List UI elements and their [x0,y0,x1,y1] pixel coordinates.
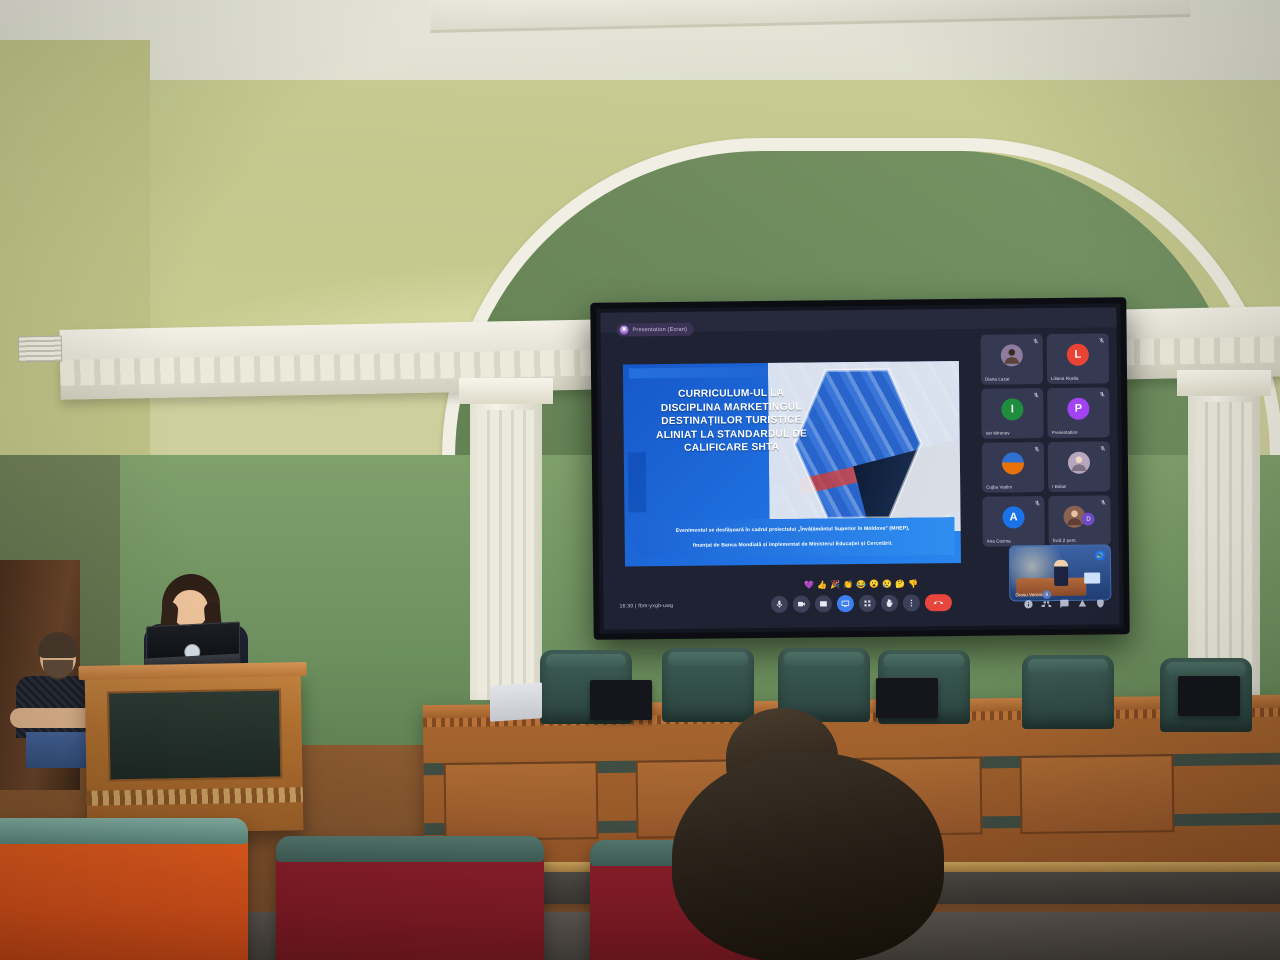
table-panel [444,761,599,841]
pilaster-left [470,400,542,700]
overflow-badge: D [1082,513,1095,526]
participant-tile[interactable]: L Liliana Rusila [1047,333,1110,384]
activities-panel-button[interactable] [1077,596,1087,606]
captions-button[interactable] [815,595,832,612]
reaction-emoji[interactable]: 😢 [882,581,892,589]
podium-front-panel [107,688,283,781]
meet-controls [771,594,952,613]
chair-headrest [784,652,864,666]
participant-name: Ion Mironov [986,430,1010,435]
avatar [1001,344,1023,366]
call-end-icon [934,598,943,607]
participant-name: Ana Cozma [987,538,1011,543]
laptop-on-table [490,682,542,722]
participant-tile[interactable]: A Ana Cozma [982,496,1045,547]
reaction-emoji[interactable]: 😮 [869,581,879,589]
reaction-emoji[interactable]: 👏 [843,581,853,589]
participant-tile[interactable]: Cujba Vadim [982,442,1045,493]
participant-name: Încă 2 pers. [1053,538,1077,543]
camera-icon [797,600,806,609]
mic-muted-icon [1034,500,1040,506]
pilaster-flutes-right [1196,402,1252,702]
presidium-chair [1022,655,1114,729]
participant-overflow-tile[interactable]: D Încă 2 pers. [1048,495,1111,546]
avatar-letter: I [1011,403,1014,415]
slide-left-notch [628,452,647,512]
table-panel [1020,754,1175,834]
monitor-on-table [1178,676,1240,716]
more-options-button[interactable] [903,594,920,611]
pilaster-cap-right [1177,370,1271,396]
chair-headrest [1166,662,1246,676]
mic-muted-icon [1099,337,1105,343]
present-button[interactable] [837,595,854,612]
seated-man-arm [10,708,94,728]
chair-headrest [546,654,626,668]
participant-name: Liliana Rusila [1051,376,1079,381]
raise-hand-button[interactable] [881,595,898,612]
participant-name: I Bolan [1052,484,1066,489]
microphone-button[interactable] [771,596,788,613]
participant-tile[interactable]: P Presentation [1047,387,1110,438]
avatar [1002,452,1024,474]
avatar-letter: L [1074,349,1081,361]
seat-headrest [276,836,544,862]
chat-icon [1059,599,1069,609]
mic-muted-icon [1034,446,1040,452]
more-vert-icon [907,598,916,607]
audience-head-front [672,752,944,960]
participant-tile[interactable]: I Ion Mironov [981,388,1044,439]
monitor-on-table [876,678,938,718]
podium-greek-molding [87,787,303,806]
chat-button[interactable] [1059,596,1069,606]
reaction-emoji[interactable]: 🤔 [895,581,905,589]
reaction-emoji[interactable]: 😂 [856,581,866,589]
present-icon: ▣ [619,325,628,334]
self-view-monitor [1084,572,1100,583]
chair-headrest [1028,659,1108,673]
slide-footer-band: Evenimentul se desfășoară în cadrul proi… [624,513,960,563]
participant-name: Cujba Vadim [986,484,1012,489]
avatar: L [1067,344,1089,366]
meeting-info-label: 16:30 | fbm-yxgb-uwg [619,603,673,610]
seated-man-hair [38,632,78,658]
participant-tile[interactable]: I Bolan [1048,441,1111,492]
pilaster-right [1188,392,1260,702]
chair-headrest [668,652,748,666]
audience-seat [0,818,248,960]
wall-mounted-display: ▣ Presentation (Ecran) CURRICULUM-UL LA … [590,297,1129,640]
participant-tile[interactable]: Diana Lazar [981,334,1044,385]
people-icon [1041,599,1051,609]
meet-control-bar: 16:30 | fbm-yxgb-uwg [603,592,1119,621]
mic-icon [775,600,784,609]
meeting-details-button[interactable] [1023,596,1033,606]
meet-right-icons: 9 [1023,595,1105,606]
person-photo-icon [1069,453,1089,473]
captions-icon [819,599,828,608]
host-controls-button[interactable] [1095,595,1105,605]
end-call-button[interactable] [925,594,952,611]
reaction-emoji[interactable]: 💜 [804,581,814,589]
google-meet-window: ▣ Presentation (Ecran) CURRICULUM-UL LA … [600,307,1119,629]
participant-name: Presentation [1052,430,1078,435]
shared-slide: CURRICULUM-UL LA DISCIPLINA MARKETINGUL … [623,361,961,567]
people-button[interactable]: 9 [1041,596,1051,606]
chair-headrest [884,654,964,668]
presidium-chair [662,648,754,722]
apps-icon [863,599,872,608]
mic-muted-icon [1033,392,1039,398]
present-icon [841,599,850,608]
slide-title-line-5: CALIFICARE SHTA [634,441,830,457]
shield-icon [1095,598,1105,608]
pilaster-flutes-left [478,410,534,700]
reaction-emoji[interactable]: 🎉 [830,581,840,589]
slide-title-line-4: ALINIAT LA STANDARDUL DE [634,427,830,443]
info-icon [1023,599,1033,609]
conference-hall-photo: ▣ Presentation (Ecran) CURRICULUM-UL LA … [0,0,1280,960]
audience-seat [276,836,544,960]
speaker-podium [85,670,304,834]
self-view-person [1054,560,1068,586]
participant-name: Diana Lazar [985,376,1010,381]
avatar: P [1067,398,1089,420]
monitor-on-table [590,680,652,720]
avatar: A [1002,506,1024,528]
participant-grid: Diana Lazar L Liliana Rusila I Ion Miron… [981,333,1111,546]
slide-footer-shape [631,517,955,558]
pilaster-cap-left [459,378,553,404]
speaker-icon: 🔊 [1095,550,1105,560]
seat-headrest [0,818,248,844]
reaction-emoji[interactable]: 👎 [908,580,918,588]
mic-muted-icon [1099,391,1105,397]
person-photo-icon [1002,345,1022,365]
reaction-emoji[interactable]: 👍 [817,581,827,589]
reaction-bar[interactable]: 💜 👍 🎉 👏 😂 😮 😢 🤔 👎 [804,580,918,589]
avatar: I [1001,398,1023,420]
presentation-chip[interactable]: ▣ Presentation (Ecran) [616,323,694,337]
wall-vent [18,336,62,363]
people-count-badge: 9 [1042,590,1051,599]
mic-muted-icon [1033,338,1039,344]
avatar-letter: P [1075,403,1082,415]
podium-top-edge [78,662,306,680]
hand-icon [885,599,894,608]
activities-icon [1077,599,1087,609]
presentation-chip-label: Presentation (Ecran) [633,326,688,333]
slide-title: CURRICULUM-UL LA DISCIPLINA MARKETINGUL … [633,386,830,456]
mic-muted-icon [1100,445,1106,451]
camera-button[interactable] [793,596,810,613]
avatar [1068,452,1090,474]
mic-muted-icon [1100,499,1106,505]
avatar-letter: A [1009,511,1017,523]
activities-button[interactable] [859,595,876,612]
